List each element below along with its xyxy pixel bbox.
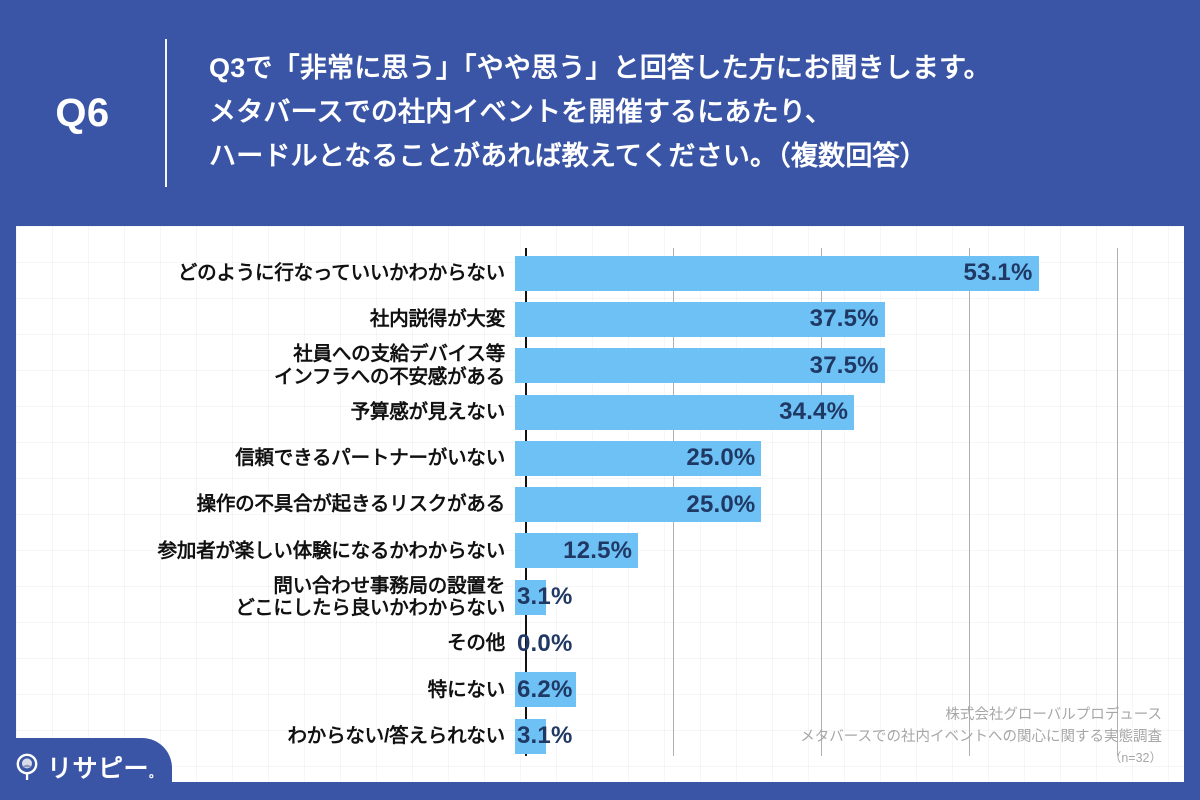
bar-row: 操作の不具合が起きるリスクがある25.0% <box>16 481 1184 527</box>
bar-row: 信頼できるパートナーがいない25.0% <box>16 435 1184 481</box>
bar-value-label: 25.0% <box>686 444 755 472</box>
attribution-survey: メタバースでの社内イベントへの関心に関する実態調査 <box>800 726 1162 748</box>
bar-category-label: 社内説得が大変 <box>16 308 515 331</box>
bar[interactable]: 3.1% <box>515 719 546 754</box>
bar-category-label: 操作の不具合が起きるリスクがある <box>16 493 515 516</box>
question-title-line-3: ハードルとなることがあれば教えてください。（複数回答） <box>209 135 991 179</box>
bar-row: 問い合わせ事務局の設置を どこにしたら良いかわからない3.1% <box>16 574 1184 620</box>
bar-track: 37.5% <box>515 296 1184 342</box>
bar[interactable]: 37.5% <box>515 348 885 383</box>
logo-trademark: 。 <box>149 766 162 780</box>
bar-track: 37.5% <box>515 343 1184 389</box>
bar-category-label: 信頼できるパートナーがいない <box>16 447 515 470</box>
bar-value-label: 3.1% <box>517 722 573 750</box>
question-title: Q3で「非常に思う」「やや思う」と回答した方にお聞きします。 メタバースでの社内… <box>167 47 991 178</box>
bar-value-label: 53.1% <box>963 259 1032 287</box>
attribution-sample-size: （n=32） <box>800 749 1162 768</box>
bar-rows: どのように行なっていいかわからない53.1%社内説得が大変37.5%社員への支給… <box>16 250 1184 759</box>
bar-track: 12.5% <box>515 528 1184 574</box>
bar-track: 25.0% <box>515 435 1184 481</box>
magnifier-icon <box>14 753 40 786</box>
bar-row: 予算感が見えない34.4% <box>16 389 1184 435</box>
bar[interactable]: 12.5% <box>515 533 638 568</box>
bar[interactable]: 25.0% <box>515 441 761 476</box>
logo-text: リサピー。 <box>47 757 162 782</box>
question-title-line-1: Q3で「非常に思う」「やや思う」と回答した方にお聞きします。 <box>209 47 991 91</box>
attribution-company: 株式会社グローバルプロデュース <box>800 704 1162 726</box>
bar-row: 参加者が楽しい体験になるかわからない12.5% <box>16 528 1184 574</box>
bar-row: その他0.0% <box>16 620 1184 666</box>
bar-value-label: 12.5% <box>563 537 632 565</box>
bar-track: 3.1% <box>515 574 1184 620</box>
question-title-line-2: メタバースでの社内イベントを開催するにあたり、 <box>209 91 991 135</box>
header-divider <box>165 39 167 187</box>
logo-wordmark: リサピー <box>47 755 149 783</box>
bar-category-label: その他 <box>16 632 515 655</box>
logo: リサピー。 <box>0 738 172 800</box>
bar-value-label: 25.0% <box>686 491 755 519</box>
bar[interactable]: 34.4% <box>515 395 854 430</box>
question-number: Q6 <box>0 91 165 136</box>
chart-card: どのように行なっていいかわからない53.1%社内説得が大変37.5%社員への支給… <box>16 226 1184 782</box>
bar-row: 社員への支給デバイス等 インフラへの不安感がある37.5% <box>16 343 1184 389</box>
slide-root: Q6 Q3で「非常に思う」「やや思う」と回答した方にお聞きします。 メタバースで… <box>0 0 1200 800</box>
attribution: 株式会社グローバルプロデュース メタバースでの社内イベントへの関心に関する実態調… <box>800 704 1162 768</box>
bar-track: 25.0% <box>515 481 1184 527</box>
bar-value-label: 6.2% <box>517 676 573 704</box>
bar-value-label: 37.5% <box>810 352 879 380</box>
bar-category-label: 参加者が楽しい体験になるかわからない <box>16 540 515 563</box>
bar[interactable]: 6.2% <box>515 672 576 707</box>
bar[interactable]: 37.5% <box>515 302 885 337</box>
bar-category-label: 予算感が見えない <box>16 401 515 424</box>
bar-value-label: 3.1% <box>517 583 573 611</box>
bar-chart: どのように行なっていいかわからない53.1%社内説得が大変37.5%社員への支給… <box>16 226 1184 782</box>
bar-row: 社内説得が大変37.5% <box>16 296 1184 342</box>
bar-value-label: 34.4% <box>779 398 848 426</box>
bar-row: どのように行なっていいかわからない53.1% <box>16 250 1184 296</box>
bar-value-label: 0.0% <box>517 630 573 658</box>
slide-header: Q6 Q3で「非常に思う」「やや思う」と回答した方にお聞きします。 メタバースで… <box>0 0 1200 226</box>
bar-track: 34.4% <box>515 389 1184 435</box>
bar-category-label: 問い合わせ事務局の設置を どこにしたら良いかわからない <box>16 575 515 620</box>
bar-track: 53.1% <box>515 250 1184 296</box>
bar-category-label: 社員への支給デバイス等 インフラへの不安感がある <box>16 343 515 388</box>
bar-value-label: 37.5% <box>810 305 879 333</box>
bar-category-label: 特にない <box>16 679 515 702</box>
bar[interactable]: 25.0% <box>515 487 761 522</box>
bar[interactable]: 3.1% <box>515 580 546 615</box>
bar-track: 0.0% <box>515 620 1184 666</box>
bar-category-label: どのように行なっていいかわからない <box>16 262 515 285</box>
bar[interactable]: 53.1% <box>515 256 1039 291</box>
